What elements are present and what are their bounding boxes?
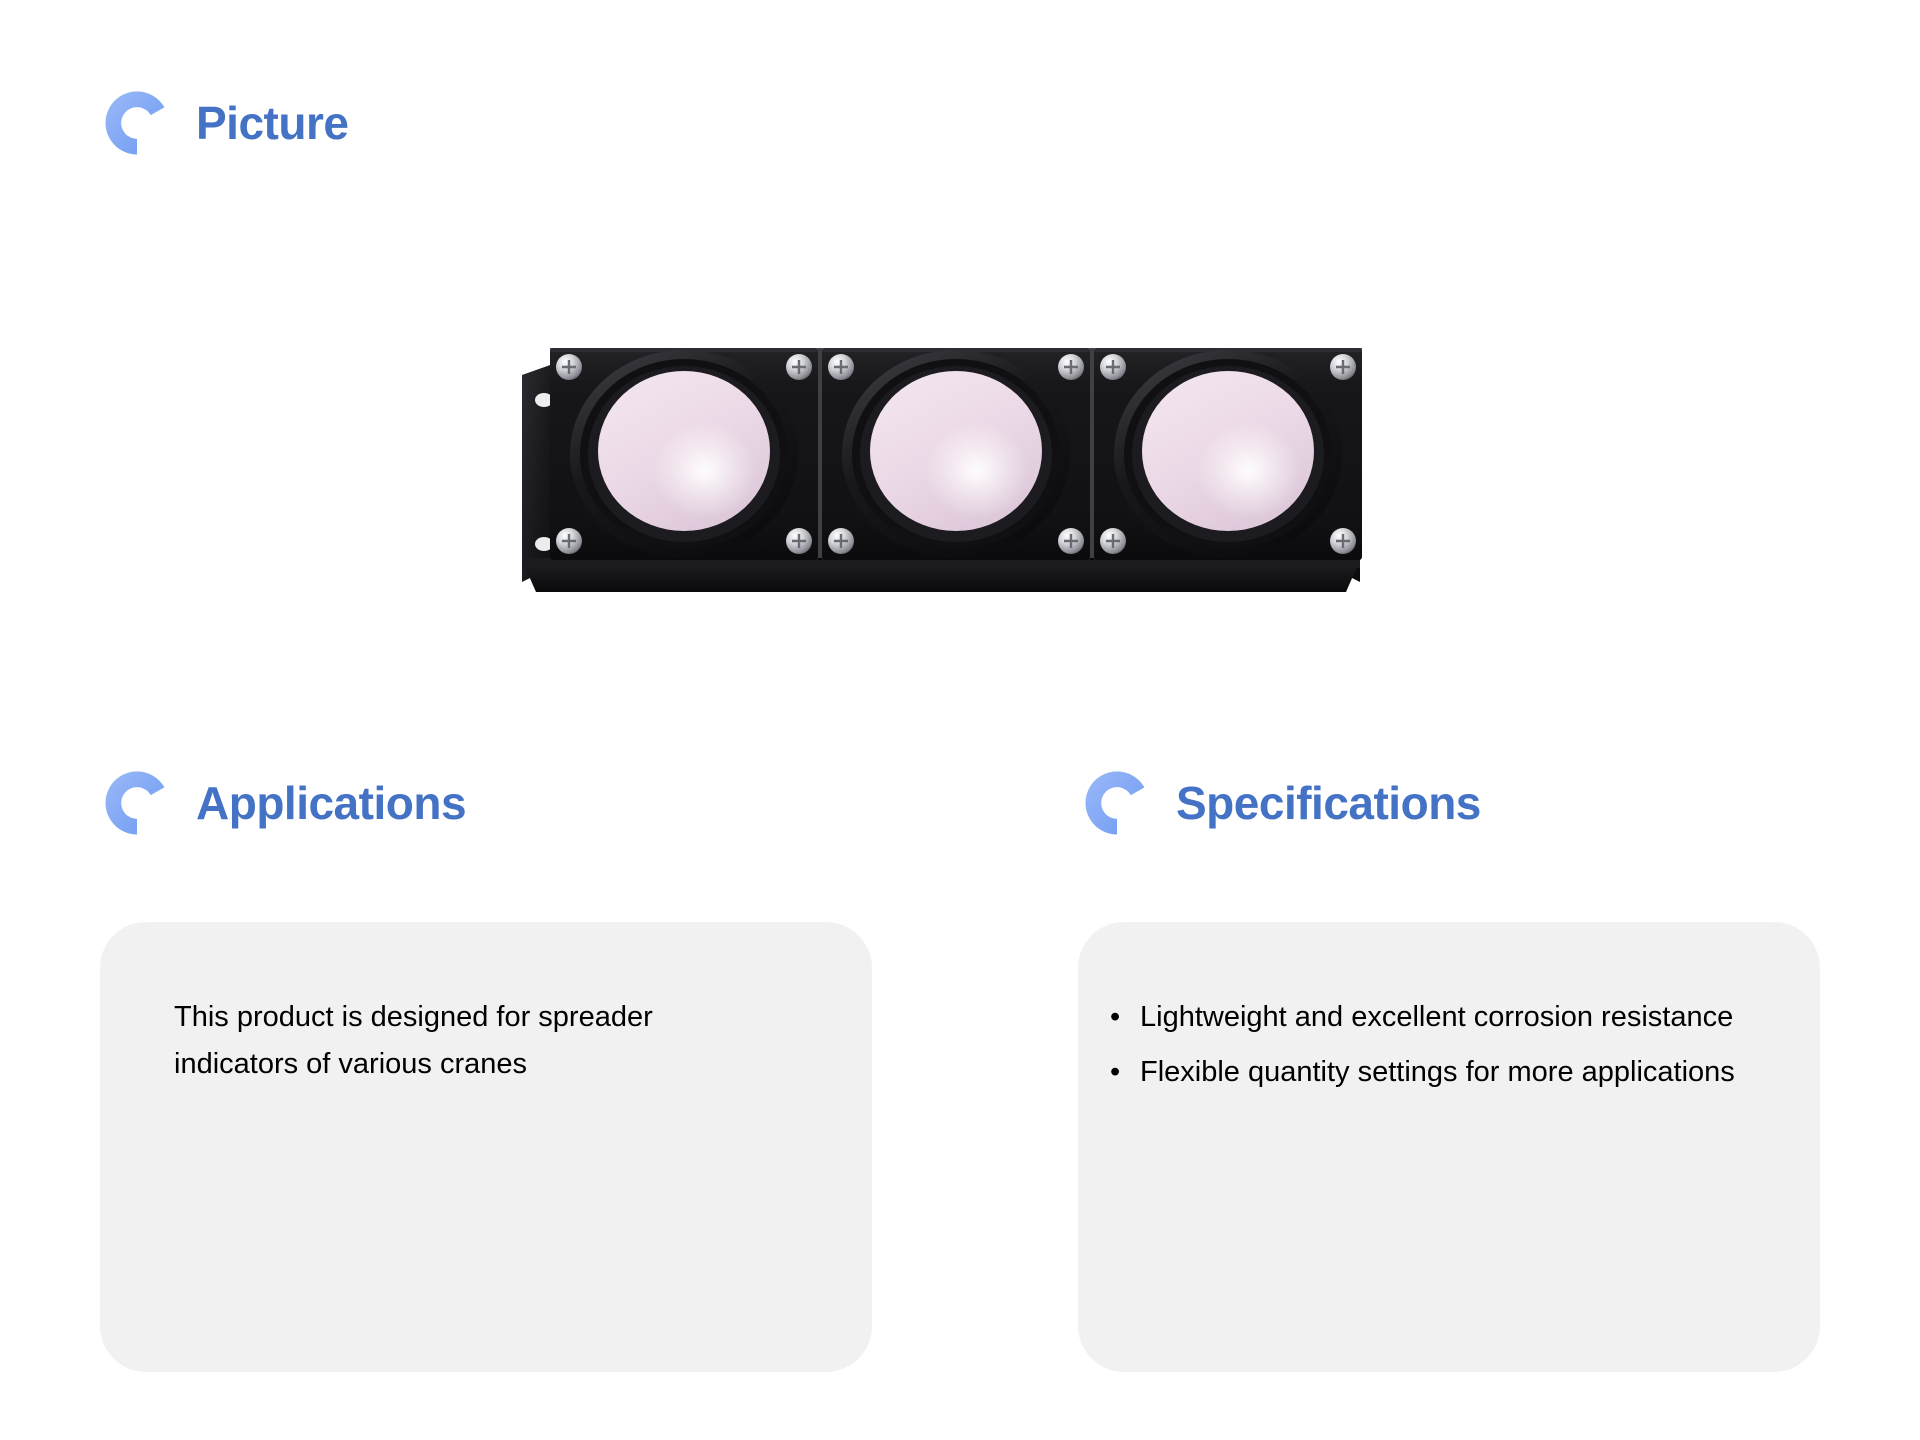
section-header-picture: Picture: [104, 90, 348, 156]
bullet-icon: •: [1110, 994, 1120, 1041]
applications-text: This product is designed for spreader in…: [174, 994, 774, 1088]
section-header-specifications: Specifications: [1084, 770, 1481, 836]
specifications-card: • Lightweight and excellent corrosion re…: [1078, 922, 1820, 1372]
product-image: [500, 320, 1380, 620]
product-slide: Picture: [0, 0, 1920, 1440]
list-item: • Lightweight and excellent corrosion re…: [1100, 994, 1790, 1041]
page-title-applications: Applications: [196, 780, 466, 826]
specifications-list: • Lightweight and excellent corrosion re…: [1100, 994, 1790, 1096]
c-brand-icon: [1084, 770, 1150, 836]
applications-card: This product is designed for spreader in…: [100, 922, 872, 1372]
specifications-card-body: • Lightweight and excellent corrosion re…: [1078, 922, 1820, 1096]
c-brand-icon: [104, 770, 170, 836]
section-header-applications: Applications: [104, 770, 466, 836]
list-item-label: Lightweight and excellent corrosion resi…: [1140, 1001, 1733, 1033]
bullet-icon: •: [1110, 1049, 1120, 1096]
applications-card-body: This product is designed for spreader in…: [100, 922, 872, 1088]
list-item: • Flexible quantity settings for more ap…: [1100, 1049, 1790, 1096]
list-item-label: Flexible quantity settings for more appl…: [1140, 1056, 1735, 1088]
page-title-picture: Picture: [196, 100, 348, 146]
page-title-specifications: Specifications: [1176, 780, 1481, 826]
c-brand-icon: [104, 90, 170, 156]
